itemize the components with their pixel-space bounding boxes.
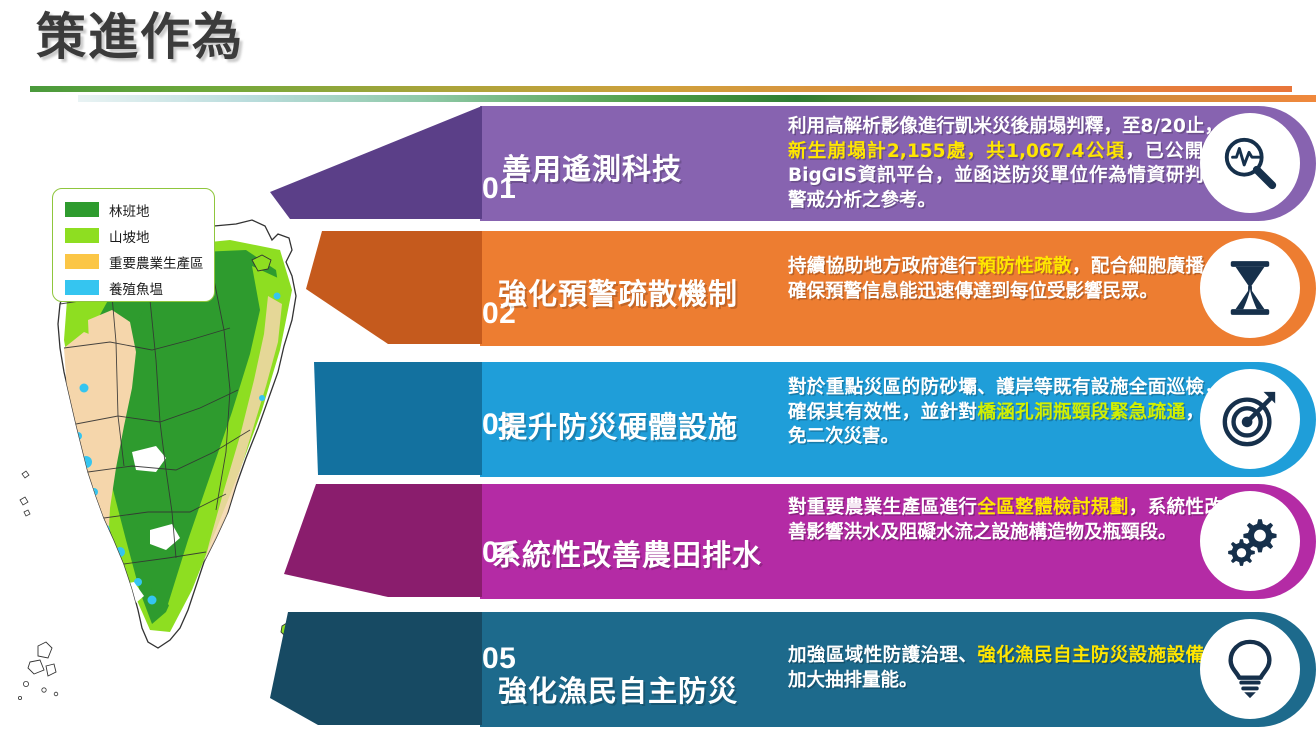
gears-glyph (1221, 512, 1279, 570)
legend-label: 山坡地 (109, 226, 150, 246)
legend-swatch-fishfarm (65, 280, 99, 295)
desc-pre: 對重要農業生產區進行 (788, 497, 977, 518)
strategy-row-02[interactable]: 02 強化預警疏散機制 持續協助地方政府進行預防性疏散，配合細胞廣播，確保預警信… (270, 231, 1316, 346)
strategy-row-01[interactable]: 01 善用遙測科技 利用高解析影像進行凱米災後崩塌判釋，至8/20止，新生崩塌計… (270, 106, 1316, 221)
strategy-description: 對重要農業生產區進行全區整體檢討規劃，系統性改善影響洪水及阻礙水流之設施構造物及… (788, 496, 1223, 545)
legend-label: 林班地 (109, 200, 150, 220)
legend-swatch-hillside (65, 228, 99, 243)
desc-pre: 持續協助地方政府進行 (788, 256, 977, 277)
desc-highlight: 全區整體檢討規劃 (977, 497, 1128, 518)
strategy-row-04[interactable]: 04 系統性改善農田排水 對重要農業生產區進行全區整體檢討規劃，系統性改善影響洪… (270, 484, 1316, 599)
legend-item: 養殖魚塭 (65, 275, 214, 300)
legend-swatch-forest (65, 202, 99, 217)
strategy-title: 系統性改善農田排水 (492, 532, 762, 574)
lightbulb-glyph (1224, 638, 1276, 700)
strategy-description: 持續協助地方政府進行預防性疏散，配合細胞廣播，確保預警信息能迅速傳達到每位受影響… (788, 255, 1223, 304)
strategy-row-03[interactable]: 03 提升防災硬體設施 對於重點災區的防砂壩、護岸等既有設施全面巡檢，確保其有效… (270, 362, 1316, 477)
legend-item: 山坡地 (65, 223, 214, 248)
strategy-description: 加強區域性防護治理、強化漁民自主防災設施設備、加大抽排量能。 (788, 644, 1223, 693)
strategy-title: 強化預警疏散機制 (498, 271, 738, 313)
target-arrow-icon (1200, 369, 1300, 469)
title-rule-secondary (78, 95, 1316, 102)
hourglass-icon (1200, 238, 1300, 338)
legend-label: 重要農業生產區 (109, 252, 204, 272)
legend-swatch-farmland (65, 254, 99, 269)
penghu-islands (18, 642, 57, 700)
magnifier-pulse-glyph (1219, 132, 1281, 194)
legend-item: 重要農業生產區 (65, 249, 214, 274)
lightbulb-icon (1200, 619, 1300, 719)
map-legend: 林班地 山坡地 重要農業生產區 養殖魚塭 (52, 188, 215, 302)
desc-highlight: 新生崩塌計2,155處，共1,067.4公頃 (788, 141, 1125, 162)
page-title: 策進作為 (36, 10, 244, 65)
hourglass-glyph (1225, 259, 1275, 317)
title-rule-primary (30, 86, 1292, 92)
legend-item: 林班地 (65, 197, 214, 222)
desc-highlight: 預防性疏散 (977, 256, 1072, 277)
strategy-title: 提升防災硬體設施 (498, 404, 738, 446)
strategy-row-05[interactable]: 05 強化漁民自主防災 加強區域性防護治理、強化漁民自主防災設施設備、加大抽排量… (270, 612, 1316, 727)
strategy-description: 對於重點災區的防砂壩、護岸等既有設施全面巡檢，確保其有效性，並針對橋涵孔洞瓶頸段… (788, 376, 1223, 450)
strategy-description: 利用高解析影像進行凱米災後崩塌判釋，至8/20止，新生崩塌計2,155處，共1,… (788, 115, 1223, 213)
target-arrow-glyph (1219, 388, 1281, 450)
offshore-islets (20, 471, 30, 516)
desc-pre: 利用高解析影像進行凱米災後崩塌判釋，至8/20止， (788, 116, 1223, 137)
desc-highlight: 強化漁民自主防災設施設備 (977, 645, 1204, 666)
desc-pre: 加強區域性防護治理、 (788, 645, 977, 666)
strategy-title: 善用遙測科技 (502, 146, 682, 188)
gears-icon (1200, 491, 1300, 591)
strategy-title: 強化漁民自主防災 (498, 668, 738, 710)
desc-highlight: 橋涵孔洞瓶頸段緊急疏通 (977, 402, 1185, 423)
magnifier-pulse-icon (1200, 113, 1300, 213)
legend-label: 養殖魚塭 (109, 278, 163, 298)
